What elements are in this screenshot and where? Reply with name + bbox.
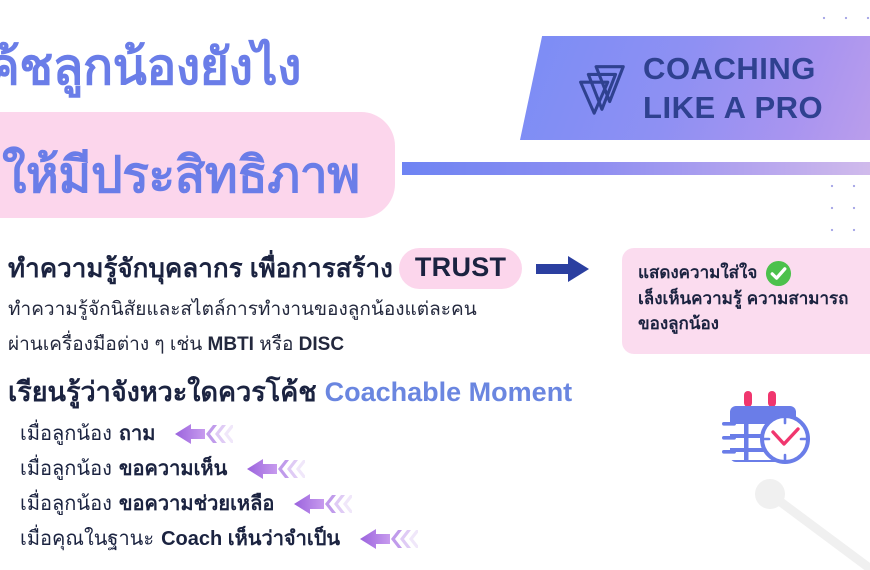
left-arrow-chevrons-icon bbox=[237, 457, 305, 481]
green-check-icon bbox=[765, 260, 792, 287]
section-moment-heading-en: Coachable Moment bbox=[325, 377, 573, 407]
note-card-line1: แสดงความใส่ใจ bbox=[638, 261, 757, 286]
banner-title-line1: COACHING bbox=[643, 49, 823, 88]
list-item: เมื่อลูกน้อง ขอความช่วยเหลือ bbox=[20, 492, 418, 516]
list-item-lead: เมื่อลูกน้อง bbox=[20, 494, 112, 514]
left-arrow-chevrons-icon bbox=[165, 422, 233, 446]
note-card: แสดงความใส่ใจ เล็งเห็นความรู้ ความสามารถ… bbox=[622, 248, 870, 354]
left-arrow-chevrons-icon bbox=[284, 492, 352, 516]
page-title-line2: ให้มีประสิทธิภาพ bbox=[2, 136, 360, 215]
list-item-lead: เมื่อคุณในฐานะ bbox=[20, 529, 154, 549]
section-moment-heading: เรียนรู้ว่าจังหวะใดควรโค้ชCoachable Mome… bbox=[8, 370, 572, 413]
page-title-line1: โค้ชลูกน้องยังไง bbox=[0, 28, 301, 107]
header-banner: COACHING LIKE A PRO bbox=[520, 36, 870, 140]
coachable-moment-list: เมื่อลูกน้อง ถาม เมื่อลูกน้อง ขอ bbox=[20, 422, 418, 562]
sub2-disc: DISC bbox=[299, 334, 344, 355]
list-item: เมื่อลูกน้อง ถาม bbox=[20, 422, 418, 446]
page-title-highlight-band: ให้มีประสิทธิภาพ bbox=[0, 112, 395, 218]
pin-line-icon bbox=[752, 478, 870, 570]
right-arrow-icon bbox=[536, 254, 590, 284]
header-banner-content: COACHING LIKE A PRO bbox=[531, 36, 870, 140]
banner-title-line2: LIKE A PRO bbox=[643, 88, 823, 127]
note-card-line2: เล็งเห็นความรู้ ความสามารถ bbox=[638, 287, 870, 312]
list-item-lead: เมื่อลูกน้อง bbox=[20, 459, 112, 479]
sub2-mbti: MBTI bbox=[208, 334, 254, 355]
slide-canvas: โค้ชลูกน้องยังไง ให้มีประสิทธิภาพ COACHI… bbox=[0, 0, 870, 570]
section-trust-heading-thai: ทำความรู้จักบุคลากร เพื่อการสร้าง bbox=[8, 248, 393, 289]
banner-title: COACHING LIKE A PRO bbox=[643, 49, 823, 127]
section-trust-sub-line1: ทำความรู้จักนิสัยและสไตล์การทำงานของลูกน… bbox=[8, 295, 618, 324]
section-trust-heading: ทำความรู้จักบุคลากร เพื่อการสร้าง TRUST bbox=[8, 248, 618, 289]
sub2-a: ผ่านเครื่องมือต่าง ๆ เช่น bbox=[8, 334, 208, 355]
section-moment-heading-thai: เรียนรู้ว่าจังหวะใดควรโค้ช bbox=[8, 377, 317, 407]
trust-keyword-pill: TRUST bbox=[399, 248, 523, 289]
section-trust: ทำความรู้จักบุคลากร เพื่อการสร้าง TRUST … bbox=[8, 248, 618, 360]
gradient-divider bbox=[402, 162, 870, 175]
note-card-line3: ของลูกน้อง bbox=[638, 312, 870, 337]
calendar-clock-icon bbox=[722, 382, 818, 468]
section-trust-sub-line2: ผ่านเครื่องมือต่าง ๆ เช่น MBTI หรือ DISC bbox=[8, 330, 618, 359]
stacked-triangles-logo-icon bbox=[567, 57, 629, 119]
sub2-c: หรือ bbox=[254, 334, 299, 355]
list-item: เมื่อคุณในฐานะ Coach เห็นว่าจำเป็น bbox=[20, 527, 418, 551]
list-item-lead: เมื่อลูกน้อง bbox=[20, 424, 112, 444]
note-card-line1-row: แสดงความใส่ใจ bbox=[638, 260, 870, 287]
list-item-strong: ขอความช่วยเหลือ bbox=[119, 494, 275, 514]
left-arrow-chevrons-icon bbox=[350, 527, 418, 551]
list-item-strong: ขอความเห็น bbox=[119, 459, 227, 479]
list-item: เมื่อลูกน้อง ขอความเห็น bbox=[20, 457, 418, 481]
list-item-strong: Coach เห็นว่าจำเป็น bbox=[161, 529, 340, 549]
list-item-strong: ถาม bbox=[119, 424, 156, 444]
